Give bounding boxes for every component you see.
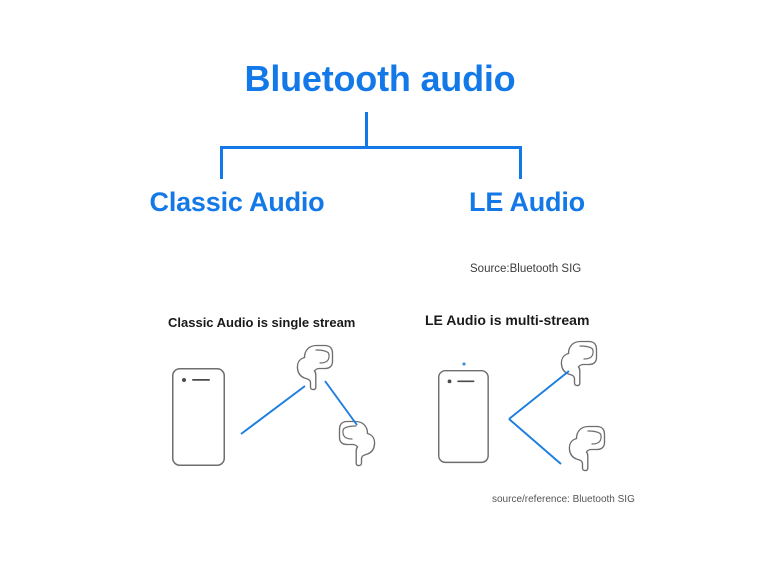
stream-line-le-lower bbox=[509, 419, 561, 464]
panel-caption-le: LE Audio is multi-stream bbox=[425, 312, 589, 328]
slide-canvas: Bluetooth audio Classic Audio LE Audio S… bbox=[0, 0, 760, 570]
phone-icon-classic bbox=[173, 369, 225, 466]
classic-audio-topology bbox=[173, 346, 375, 466]
earbud-icon-classic-secondary bbox=[340, 422, 375, 466]
stream-line-primary-to-secondary bbox=[325, 381, 357, 425]
source-attribution-top: Source:Bluetooth SIG bbox=[470, 263, 581, 275]
le-audio-topology bbox=[439, 342, 605, 471]
phone-icon-le bbox=[439, 371, 488, 463]
stream-line-phone-to-primary bbox=[241, 386, 305, 434]
panel-caption-classic: Classic Audio is single stream bbox=[168, 315, 355, 330]
earbud-icon-le-upper bbox=[561, 342, 596, 386]
earbud-icon-classic-primary bbox=[297, 346, 332, 390]
stream-line-le-upper bbox=[509, 371, 569, 419]
earbud-icon-le-lower bbox=[569, 427, 604, 471]
page-title: Bluetooth audio bbox=[0, 58, 760, 100]
branch-label-classic-audio: Classic Audio bbox=[117, 187, 357, 218]
broadcast-dot-icon bbox=[462, 362, 465, 365]
source-attribution-bottom: source/reference: Bluetooth SIG bbox=[492, 494, 635, 505]
branch-label-le-audio: LE Audio bbox=[427, 187, 627, 218]
